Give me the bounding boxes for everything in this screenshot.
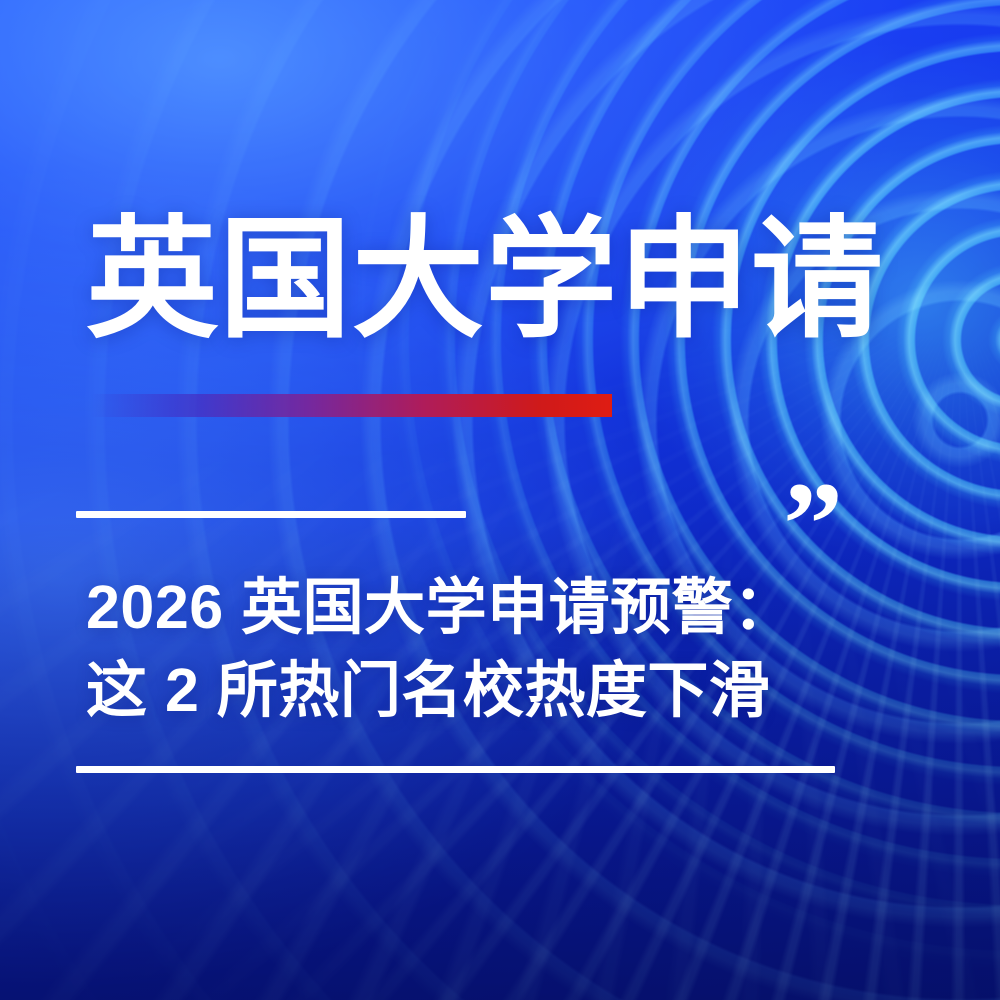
main-title: 英国大学申请 — [86, 214, 884, 346]
subtitle-line-1: 2026 英国大学申请预警： — [86, 566, 795, 649]
poster-canvas: 英国大学申请 ” 2026 英国大学申请预警： 这 2 所热门名校热度下滑 — [0, 0, 1000, 1000]
accent-bar — [90, 394, 612, 417]
subtitle: 2026 英国大学申请预警： 这 2 所热门名校热度下滑 — [86, 566, 795, 732]
divider-top — [76, 511, 466, 518]
divider-bottom — [76, 766, 835, 773]
poster-content: 英国大学申请 ” 2026 英国大学申请预警： 这 2 所热门名校热度下滑 — [0, 0, 1000, 1000]
subtitle-line-2: 这 2 所热门名校热度下滑 — [86, 649, 795, 732]
